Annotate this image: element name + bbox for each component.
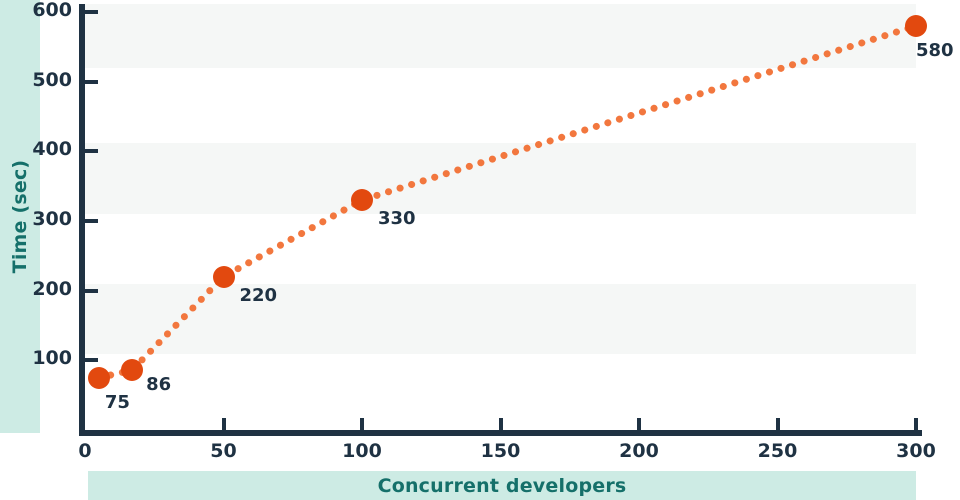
x-axis-tick: [360, 418, 364, 430]
y-axis-tick: [85, 358, 98, 362]
data-point-marker[interactable]: [88, 367, 110, 389]
x-axis-label-band: Concurrent developers: [88, 471, 916, 500]
data-point-label: 330: [378, 208, 416, 229]
x-axis-tick: [637, 418, 641, 430]
x-axis-tick-label: 150: [481, 440, 521, 462]
y-axis-tick: [85, 80, 98, 84]
x-axis-tick: [914, 418, 918, 430]
x-axis-tick-label: 50: [210, 440, 236, 462]
grid-band: [85, 143, 916, 214]
data-point-label: 75: [105, 392, 130, 413]
y-axis-tick-label: 400: [0, 138, 72, 160]
y-axis-tick: [85, 10, 98, 14]
x-axis-tick-label: 250: [758, 440, 798, 462]
x-axis-tick-label: 200: [619, 440, 659, 462]
grid-band: [85, 4, 916, 68]
y-axis-tick-label: 200: [0, 278, 72, 300]
x-axis-line: [79, 430, 922, 436]
y-axis-tick-label: 600: [0, 0, 72, 21]
data-point-label: 86: [146, 374, 171, 395]
x-axis-tick: [222, 418, 226, 430]
data-point-marker[interactable]: [121, 359, 143, 381]
x-axis-tick-label: 0: [78, 440, 91, 462]
x-axis-tick: [499, 418, 503, 430]
x-axis-tick: [776, 418, 780, 430]
data-point-marker[interactable]: [213, 266, 235, 288]
y-axis-tick-label: 100: [0, 347, 72, 369]
y-axis-tick-label: 500: [0, 69, 72, 91]
y-axis-tick-label: 300: [0, 208, 72, 230]
y-axis-tick: [85, 149, 98, 153]
data-point-label: 220: [240, 285, 278, 306]
data-point-marker[interactable]: [351, 189, 373, 211]
x-axis-tick-label: 300: [896, 440, 936, 462]
data-point-label: 580: [916, 40, 954, 61]
x-axis-label: Concurrent developers: [378, 475, 627, 497]
x-axis-tick-label: 100: [342, 440, 382, 462]
grid-band: [85, 284, 916, 354]
data-point-marker[interactable]: [905, 15, 927, 37]
plot-area: [85, 0, 916, 430]
y-axis-tick: [85, 289, 98, 293]
y-axis-tick: [85, 219, 98, 223]
